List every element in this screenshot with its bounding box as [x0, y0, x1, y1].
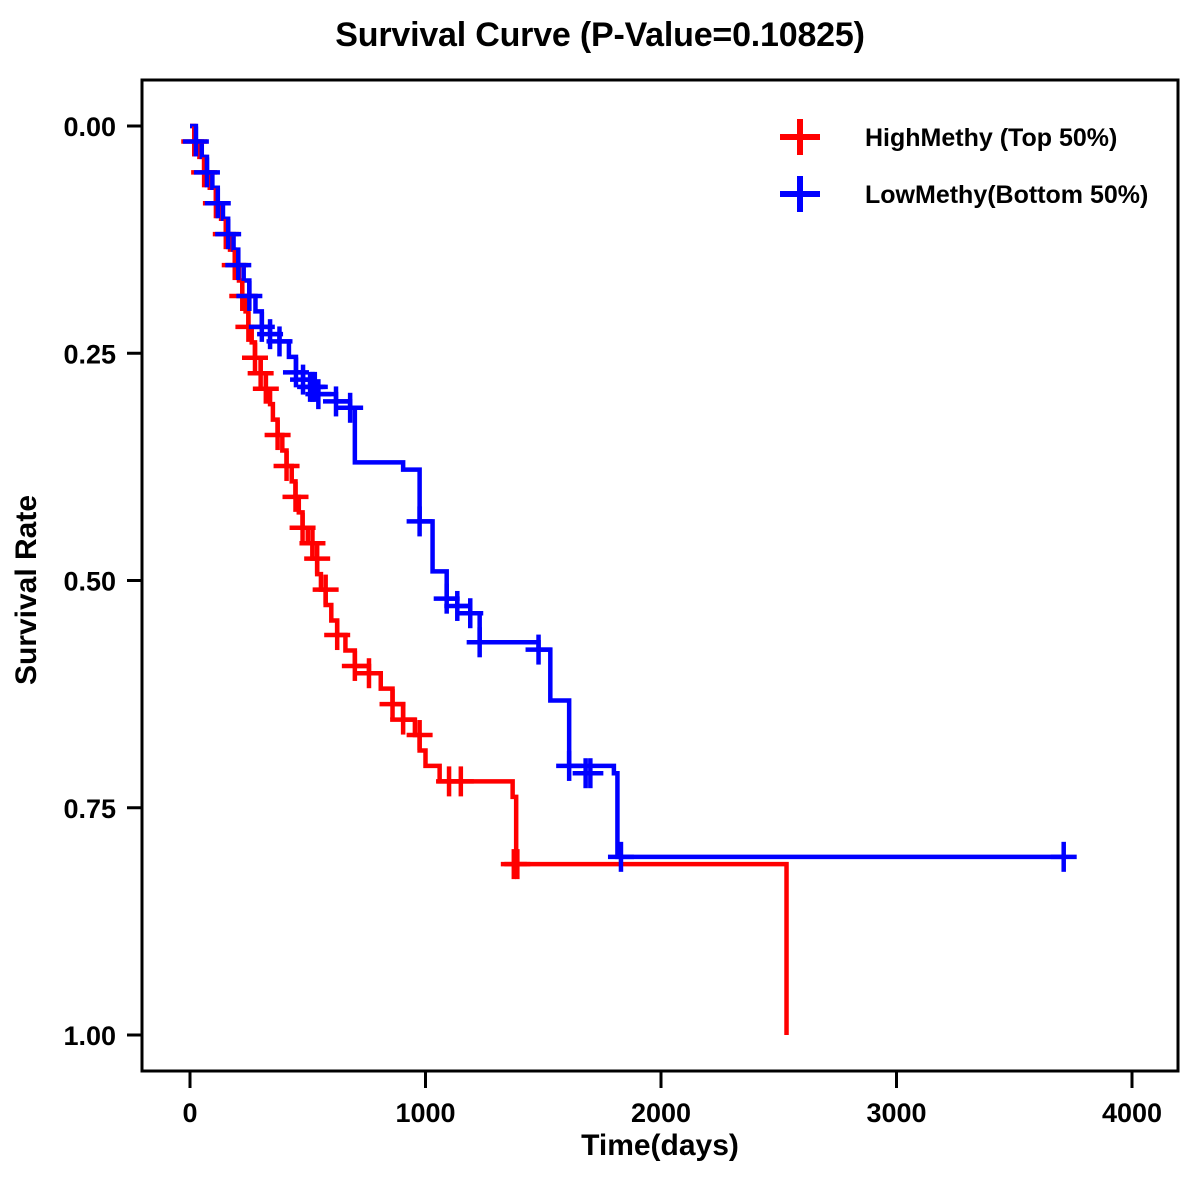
x-axis-title: Time(days) — [581, 1129, 739, 1162]
x-tick-label: 3000 — [866, 1098, 926, 1128]
censor-mark — [556, 751, 582, 781]
y-axis-ticks: 1.000.750.500.250.00 — [63, 112, 142, 1051]
censor-mark — [194, 157, 220, 187]
legend: HighMethy (Top 50%)LowMethy(Bottom 50%) — [780, 119, 1148, 212]
censor-mark — [407, 720, 433, 750]
plus-marker-icon — [780, 119, 820, 155]
censor-mark — [215, 219, 241, 249]
x-tick-label: 2000 — [631, 1098, 691, 1128]
censor-mark — [242, 343, 268, 373]
censor-mark — [302, 372, 328, 402]
censor-mark — [283, 482, 309, 512]
survival-curve — [190, 126, 787, 1035]
legend-label: LowMethy(Bottom 50%) — [865, 181, 1148, 209]
survival-curve — [190, 126, 1064, 857]
legend-item[interactable]: HighMethy (Top 50%) — [780, 119, 1117, 155]
censor-mark — [323, 386, 349, 416]
y-tick-label: 0.75 — [63, 794, 116, 824]
censor-mark — [504, 849, 530, 879]
censor-mark — [608, 842, 634, 872]
censor-mark — [183, 126, 209, 156]
plus-marker-icon — [780, 176, 820, 212]
censor-mark — [526, 635, 552, 665]
censor-mark — [248, 358, 274, 388]
censor-mark — [225, 250, 251, 280]
x-axis-ticks: 01000200030004000 — [182, 1071, 1162, 1128]
y-tick-label: 0.50 — [63, 567, 116, 597]
censor-mark — [342, 651, 368, 681]
survival-chart-page: Survival Curve (P-Value=0.10825) 1.000.7… — [0, 0, 1200, 1200]
censor-mark — [265, 420, 291, 450]
curve-layer — [190, 126, 1064, 1035]
censor-mark — [313, 575, 339, 605]
censor-mark — [577, 758, 603, 788]
censor-mark — [253, 374, 279, 404]
censor-mark — [304, 544, 330, 574]
censor-mark — [407, 506, 433, 536]
y-axis-title: Survival Rate — [10, 495, 43, 685]
y-tick-label: 1.00 — [63, 1021, 116, 1051]
plot-frame — [142, 80, 1178, 1071]
censor-mark — [467, 627, 493, 657]
survival-plot: 1.000.750.500.250.00 01000200030004000 T… — [0, 0, 1200, 1200]
censor-mark — [448, 766, 474, 796]
x-tick-label: 0 — [182, 1098, 197, 1128]
censor-mark — [337, 393, 363, 423]
censor-mark — [205, 188, 231, 218]
censor-marks-layer — [181, 126, 1076, 879]
censor-mark — [1051, 842, 1077, 872]
x-tick-label: 4000 — [1102, 1098, 1162, 1128]
y-tick-label: 0.25 — [63, 339, 116, 369]
legend-item[interactable]: LowMethy(Bottom 50%) — [780, 176, 1148, 212]
censor-mark — [274, 451, 300, 481]
y-tick-label: 0.00 — [63, 112, 116, 142]
x-tick-label: 1000 — [395, 1098, 455, 1128]
legend-label: HighMethy (Top 50%) — [865, 124, 1117, 152]
censor-mark — [356, 658, 382, 688]
